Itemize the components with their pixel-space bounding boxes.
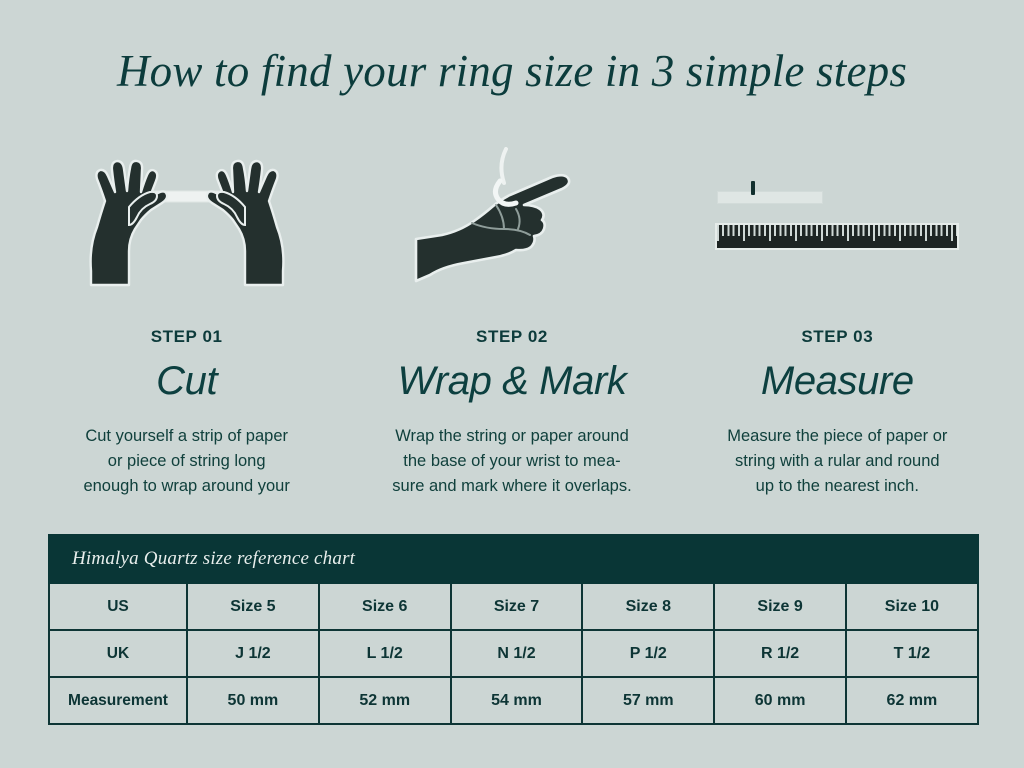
table-cell: Size 6: [319, 583, 451, 630]
ruler-shape: [715, 223, 959, 250]
table-cell: Size 8: [582, 583, 714, 630]
hand-with-string-wrapped-icon: [412, 147, 612, 287]
paper-strip-shape: [717, 191, 823, 204]
table-cell: L 1/2: [319, 630, 451, 677]
table-cell: Size 7: [451, 583, 583, 630]
table-cell: J 1/2: [187, 630, 319, 677]
step-03-desc-line-3: up to the nearest inch.: [692, 474, 982, 499]
step-01-desc-line-1: Cut yourself a strip of paper: [42, 424, 332, 449]
table-cell: Size 5: [187, 583, 319, 630]
step-03-illustration: [675, 132, 1000, 302]
table-row: US Size 5 Size 6 Size 7 Size 8 Size 9 Si…: [49, 583, 978, 630]
step-02-illustration: [349, 132, 674, 302]
step-02-desc-line-2: the base of your wrist to mea-: [367, 449, 657, 474]
step-card-01: STEP 01 Cut Cut yourself a strip of pape…: [24, 132, 349, 499]
ruler-major-ticks: [717, 225, 957, 241]
step-03-description: Measure the piece of paper or string wit…: [692, 424, 982, 499]
table-cell: 54 mm: [451, 677, 583, 724]
step-01-illustration: [24, 132, 349, 302]
two-hands-holding-paper-strip-icon: [67, 147, 307, 287]
step-02-desc-line-3: sure and mark where it overlaps.: [367, 474, 657, 499]
table-cell: 57 mm: [582, 677, 714, 724]
steps-row: STEP 01 Cut Cut yourself a strip of pape…: [24, 132, 1000, 499]
step-01-number: STEP 01: [151, 327, 223, 347]
size-reference-table: Himalya Quartz size reference chart US S…: [48, 534, 979, 725]
step-01-desc-line-2: or piece of string long: [42, 449, 332, 474]
step-01-title: Cut: [156, 359, 217, 404]
paper-mark-shape: [751, 181, 755, 195]
row-label-measurement: Measurement: [49, 677, 187, 724]
step-03-title: Measure: [761, 359, 914, 404]
table-cell: Size 10: [846, 583, 978, 630]
table-cell: 62 mm: [846, 677, 978, 724]
table-cell: R 1/2: [714, 630, 846, 677]
table-cell: T 1/2: [846, 630, 978, 677]
step-02-desc-line-1: Wrap the string or paper around: [367, 424, 657, 449]
step-03-desc-line-1: Measure the piece of paper or: [692, 424, 982, 449]
step-03-number: STEP 03: [801, 327, 873, 347]
page-title: How to find your ring size in 3 simple s…: [0, 42, 1024, 100]
table-cell: 52 mm: [319, 677, 451, 724]
table-caption: Himalya Quartz size reference chart: [49, 535, 978, 583]
step-01-description: Cut yourself a strip of paper or piece o…: [42, 424, 332, 499]
table-row: Measurement 50 mm 52 mm 54 mm 57 mm 60 m…: [49, 677, 978, 724]
table-row: UK J 1/2 L 1/2 N 1/2 P 1/2 R 1/2 T 1/2: [49, 630, 978, 677]
table-cell: Size 9: [714, 583, 846, 630]
row-label-uk: UK: [49, 630, 187, 677]
step-02-description: Wrap the string or paper around the base…: [367, 424, 657, 499]
step-01-desc-line-3: enough to wrap around your: [42, 474, 332, 499]
row-label-us: US: [49, 583, 187, 630]
step-card-02: STEP 02 Wrap & Mark Wrap the string or p…: [349, 132, 674, 499]
ruler-with-paper-strip-icon: [707, 167, 967, 267]
step-02-number: STEP 02: [476, 327, 548, 347]
table-caption-row: Himalya Quartz size reference chart: [49, 535, 978, 583]
table-cell: 60 mm: [714, 677, 846, 724]
step-02-title: Wrap & Mark: [398, 359, 627, 404]
table-cell: 50 mm: [187, 677, 319, 724]
step-03-desc-line-2: string with a rular and round: [692, 449, 982, 474]
table-cell: N 1/2: [451, 630, 583, 677]
table-cell: P 1/2: [582, 630, 714, 677]
step-card-03: STEP 03 Measure Measure the piece of pap…: [675, 132, 1000, 499]
